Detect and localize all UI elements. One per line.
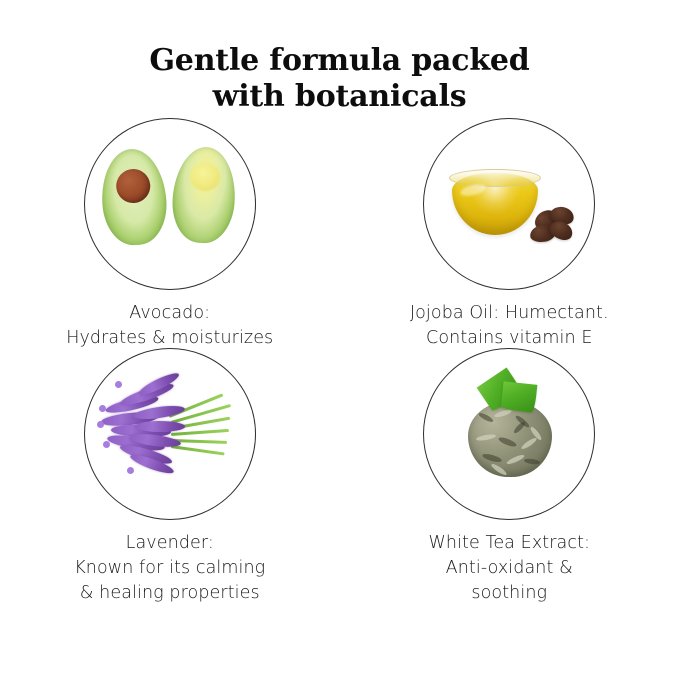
lavender-stem xyxy=(171,445,225,455)
dried-tea-leaf xyxy=(520,436,538,450)
ingredient-card-avocado: Avocado: Hydrates & moisturizes xyxy=(0,118,340,351)
ingredients-row-top: Avocado: Hydrates & moisturizes Jojoba xyxy=(0,118,679,351)
ingredients-row-bottom: Lavender: Known for its calming & healin… xyxy=(0,348,679,606)
avocado-image-circle xyxy=(84,118,256,290)
dried-tea-leaves-pile xyxy=(468,401,552,477)
white-tea-caption: White Tea Extract: Anti-oxidant & soothi… xyxy=(428,531,590,606)
ingredient-card-lavender: Lavender: Known for its calming & healin… xyxy=(0,348,340,606)
jojoba-oil-image-circle xyxy=(423,118,595,290)
dried-tea-leaf xyxy=(513,420,527,434)
lavender-bud xyxy=(99,405,106,412)
avocado-halves-icon xyxy=(85,119,255,289)
title-line-2: with botanicals xyxy=(0,79,679,115)
oil-bowl-rim xyxy=(449,169,541,187)
avocado-half-pitless xyxy=(169,145,238,245)
lavender-caption: Lavender: Known for its calming & healin… xyxy=(74,531,265,606)
avocado-caption: Avocado: Hydrates & moisturizes xyxy=(66,301,273,351)
fresh-tea-leaf xyxy=(501,381,538,412)
dried-tea-leaf xyxy=(476,433,497,441)
white-tea-leaves-icon xyxy=(424,349,594,519)
page-title: Gentle formula packed with botanicals xyxy=(0,43,679,115)
lavender-bud xyxy=(115,381,122,388)
lavender-bud xyxy=(127,467,134,474)
avocado-half-with-pit xyxy=(98,147,169,247)
dried-tea-leaf xyxy=(506,453,525,465)
jojoba-oil-caption: Jojoba Oil: Humectant. Contains vitamin … xyxy=(410,301,609,351)
lavender-flower-spike xyxy=(135,421,185,432)
ingredient-card-jojoba-oil: Jojoba Oil: Humectant. Contains vitamin … xyxy=(340,118,679,351)
white-tea-image-circle xyxy=(423,348,595,520)
dried-tea-leaf xyxy=(498,436,518,449)
dried-tea-leaf xyxy=(524,458,541,465)
ingredients-grid: Avocado: Hydrates & moisturizes Jojoba xyxy=(0,118,679,606)
dried-tea-leaf xyxy=(494,408,513,418)
lavender-bud xyxy=(103,441,110,448)
lavender-bouquet-icon xyxy=(85,349,255,519)
jojoba-oil-bowl-icon xyxy=(424,119,594,289)
dried-tea-leaf xyxy=(482,452,503,463)
lavender-image-circle xyxy=(84,348,256,520)
ingredient-card-white-tea-extract: White Tea Extract: Anti-oxidant & soothi… xyxy=(340,348,679,606)
dried-tea-leaf xyxy=(478,412,494,424)
ingredients-infographic: Gentle formula packed with botanicals Av… xyxy=(0,0,679,679)
title-line-1: Gentle formula packed xyxy=(149,43,529,78)
lavender-stem xyxy=(171,429,229,436)
dried-tea-leaf xyxy=(490,462,508,476)
lavender-bud xyxy=(97,421,104,428)
